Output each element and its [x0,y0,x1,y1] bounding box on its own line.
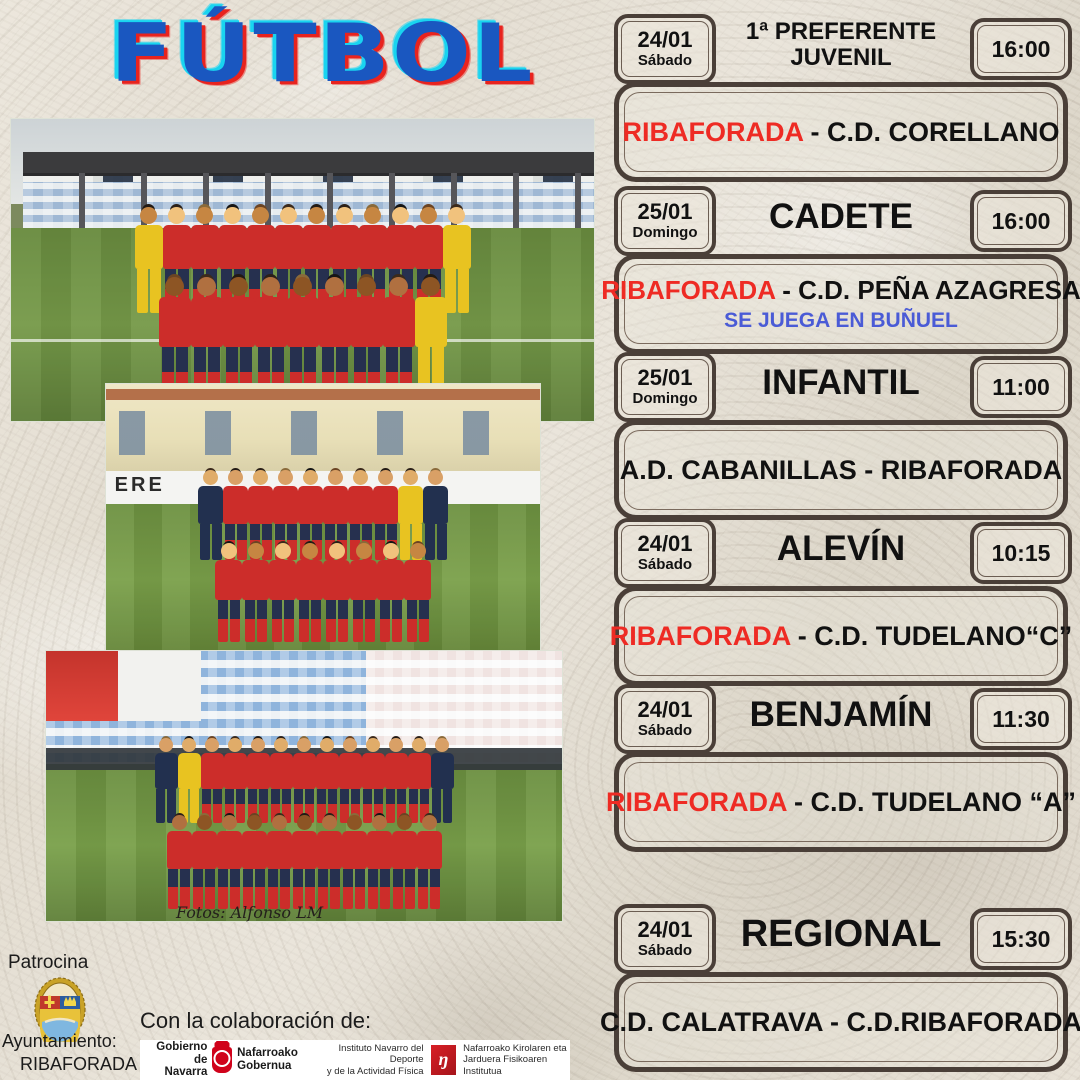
player-torso [431,753,454,789]
player-torso [217,831,242,869]
separator: - [857,455,881,485]
home-team: A.D. CABANILLAS [620,455,857,485]
match-box[interactable]: RIBAFORADA - C.D. CORELLANO [614,82,1068,182]
player-head [336,207,353,224]
building-roof [106,389,540,400]
player-head [421,277,440,296]
player-leg [380,600,390,642]
separator: - [803,117,827,147]
player-figure [247,738,270,823]
player-leg [299,600,309,642]
player-figure [201,738,224,823]
player-leg [230,600,240,642]
match-box[interactable]: C.D. CALATRAVA - C.D.RIBAFORADA [614,972,1068,1072]
away-team: C.D. TUDELANO“C” [814,621,1072,651]
player-torso [303,225,331,269]
player-head [356,543,372,559]
date-badge: 24/01 Sábado [614,518,716,588]
building-windows [119,411,527,455]
away-team: C.D.RIBAFORADA [847,1007,1080,1037]
player-leg [330,869,340,909]
player-torso [392,831,417,869]
player-leg [284,600,294,642]
fixture-benjamin[interactable]: 24/01 Sábado BENJAMÍN 11:30 RIBAFORADA -… [600,678,1080,852]
time-badge: 11:00 [970,356,1072,418]
player-torso [248,486,273,524]
collaborator-logos: Gobierno de Navarra Nafarroako Gobernua … [140,1040,570,1080]
category-label: 1ª PREFERENTE JUVENIL [708,8,974,82]
match-teams: RIBAFORADA - C.D. TUDELANO“C” [610,621,1072,651]
match-teams: A.D. CABANILLAS - RIBAFORADA [620,455,1063,485]
player-figure [417,815,442,909]
player-head [435,738,449,752]
player-head [248,543,264,559]
player-torso [215,560,242,600]
player-figure [431,738,454,823]
player-leg [353,600,363,642]
player-figure [385,738,408,823]
match-box[interactable]: RIBAFORADA - C.D. TUDELANO “A” [614,752,1068,852]
player-head [420,207,437,224]
player-head [383,543,399,559]
player-figure [339,738,362,823]
team-row-back [46,738,562,823]
player-legs [342,869,367,909]
player-torso [298,486,323,524]
player-torso [155,753,178,789]
player-leg [419,600,429,642]
player-torso [292,831,317,869]
player-figure [392,815,417,909]
instituto-deporte-es: Instituto Navarro del Deporte y de la Ac… [320,1043,424,1078]
match-note: SE JUEGA EN BUÑUEL [724,309,958,332]
player-head [165,277,184,296]
home-team: RIBAFORADA [601,275,775,305]
home-team: RIBAFORADA [606,787,786,817]
player-torso [198,486,223,524]
player-torso [415,225,443,269]
player-leg [245,600,255,642]
player-figure [296,543,323,642]
away-team: C.D. PEÑA AZAGRESA [798,275,1080,305]
fixture-regional[interactable]: 24/01 Sábado REGIONAL 15:30 C.D. CALATRA… [600,898,1080,1072]
player-leg [355,869,365,909]
team-row-front [106,543,540,642]
player-head [274,738,288,752]
player-leg [392,600,402,642]
player-torso [159,297,191,347]
player-figure [404,543,431,642]
player-head [325,277,344,296]
player-head [347,815,362,830]
player-figure [317,815,342,909]
juvenil-team-photo [10,118,595,422]
player-torso [323,486,348,524]
match-teams: RIBAFORADA - C.D. CORELLANO [623,117,1060,147]
player-head [275,543,291,559]
player-legs [215,600,242,642]
player-torso [247,225,275,269]
player-figure [224,738,247,823]
player-torso [267,831,292,869]
player-leg [405,869,415,909]
player-torso [331,225,359,269]
player-figure [167,815,192,909]
player-head [329,543,345,559]
separator: - [775,275,798,305]
player-head [196,207,213,224]
category-label: INFANTIL [708,346,974,420]
player-figure [342,815,367,909]
player-legs [367,869,392,909]
player-head [297,738,311,752]
player-head [389,277,408,296]
player-torso [247,753,270,789]
player-figure [377,543,404,642]
fixtures-column: 24/01 Sábado 1ª PREFERENTE JUVENIL 16:00… [600,0,1080,1080]
fixture-infantil[interactable]: 25/01 Domingo INFANTIL 11:00 A.D. CABANI… [600,346,1080,520]
fixture-alevin[interactable]: 24/01 Sábado ALEVÍN 10:15 RIBAFORADA - C… [600,512,1080,686]
player-torso [275,225,303,269]
fixture-header: 25/01 Domingo INFANTIL 11:00 [600,346,1080,420]
alevin-team-photo: ERE [105,383,541,657]
date-badge: 24/01 Sábado [614,684,716,754]
player-torso [359,225,387,269]
player-head [221,543,237,559]
match-box[interactable]: RIBAFORADA - C.D. PEÑA AZAGRESA SE JUEGA… [614,254,1068,354]
player-head [410,543,426,559]
player-head [278,470,293,485]
player-legs [269,600,296,642]
player-head [222,815,237,830]
away-team: RIBAFORADA [881,455,1063,485]
player-leg [365,600,375,642]
player-torso [287,297,319,347]
player-figure [362,738,385,823]
player-head [205,738,219,752]
category-label: BENJAMÍN [708,678,974,752]
player-legs [377,600,404,642]
separator: - [823,1007,847,1037]
player-figure [408,738,431,823]
match-teams: C.D. CALATRAVA - C.D.RIBAFORADA [600,1007,1080,1037]
player-torso [255,297,287,347]
title-area: FÚTBOL [0,6,600,102]
player-head [203,470,218,485]
player-leg [326,600,336,642]
player-torso [242,831,267,869]
player-leg [272,600,282,642]
player-torso [367,831,392,869]
team-row-front [46,815,562,909]
ayuntamiento-block: Ayuntamiento: RIBAFORADA [2,1030,137,1075]
player-torso [167,831,192,869]
player-figure [316,738,339,823]
player-head [412,738,426,752]
player-figure [269,543,296,642]
player-head [372,815,387,830]
player-head [322,815,337,830]
player-head [197,815,212,830]
time-badge: 15:30 [970,908,1072,970]
instituto-navarro-deporte-logo: Instituto Navarro del Deporte y de la Ac… [320,1043,570,1078]
gobierno-de-navarra-logo: Gobierno de Navarra Nafarroako Gobernua [154,1041,298,1080]
player-torso [316,753,339,789]
player-torso [293,753,316,789]
home-team: RIBAFORADA [610,621,790,651]
player-torso [417,831,442,869]
player-head [320,738,334,752]
player-head [343,738,357,752]
player-figure [323,543,350,642]
player-torso [224,753,247,789]
player-head [159,738,173,752]
player-figure [350,543,377,642]
separator: - [790,621,814,651]
player-leg [418,869,428,909]
ayuntamiento-name: RIBAFORADA [2,1053,137,1076]
player-head [168,207,185,224]
player-head [378,470,393,485]
player-leg [257,600,267,642]
player-head [293,277,312,296]
player-torso [350,560,377,600]
home-team: RIBAFORADA [623,117,803,147]
player-head [272,815,287,830]
fixture-header: 24/01 Sábado REGIONAL 15:30 [600,898,1080,972]
player-torso [269,560,296,600]
player-torso [342,831,367,869]
player-torso [319,297,351,347]
collaboration-label: Con la colaboración de: [140,1008,371,1034]
category-label: ALEVÍN [708,512,974,586]
player-torso [387,225,415,269]
date-badge: 24/01 Sábado [614,14,716,84]
fixture-header: 24/01 Sábado 1ª PREFERENTE JUVENIL 16:00 [600,8,1080,82]
player-leg [368,869,378,909]
player-head [302,543,318,559]
player-head [297,815,312,830]
player-head [357,277,376,296]
instituto-deporte-eu: Nafarroako Kirolaren eta Jarduera Fisiko… [463,1043,570,1078]
ayuntamiento-label: Ayuntamiento: [2,1030,137,1053]
fixture-header: 25/01 Domingo CADETE 16:00 [600,180,1080,254]
player-head [229,277,248,296]
time-badge: 16:00 [970,190,1072,252]
player-leg [338,600,348,642]
player-head [253,470,268,485]
player-head [172,815,187,830]
player-head [224,207,241,224]
home-team: C.D. CALATRAVA [600,1007,822,1037]
fixture-header: 24/01 Sábado BENJAMÍN 11:30 [600,678,1080,752]
player-legs [404,600,431,642]
player-head [366,738,380,752]
player-figure [217,815,242,909]
player-figure [242,543,269,642]
player-head [280,207,297,224]
time-badge: 16:00 [970,18,1072,80]
player-figure [293,738,316,823]
match-box[interactable]: RIBAFORADA - C.D. TUDELANO“C” [614,586,1068,686]
time-badge: 11:30 [970,688,1072,750]
player-head [261,277,280,296]
player-head [392,207,409,224]
player-torso [404,560,431,600]
photo-credit: Fotos: Alfonso LM [176,903,323,922]
player-head [251,738,265,752]
player-torso [223,486,248,524]
player-torso [273,486,298,524]
match-teams: RIBAFORADA - C.D. PEÑA AZAGRESA [601,276,1080,305]
category-label: CADETE [708,180,974,254]
time-badge: 10:15 [970,522,1072,584]
player-figure [192,815,217,909]
player-head [228,470,243,485]
navarra-shield-icon [212,1047,232,1073]
player-torso [270,753,293,789]
player-torso [408,753,431,789]
player-legs [417,869,442,909]
player-torso [423,486,448,524]
player-head [403,470,418,485]
player-head [247,815,262,830]
player-leg [343,869,353,909]
gobierno-navarra-es: Gobierno de Navarra [154,1041,207,1080]
player-torso [415,297,447,347]
player-head [428,470,443,485]
player-head [228,738,242,752]
fixture-cadete[interactable]: 25/01 Domingo CADETE 16:00 RIBAFORADA - … [600,180,1080,354]
player-head [308,207,325,224]
player-torso [296,560,323,600]
player-head [397,815,412,830]
player-head [448,207,465,224]
player-torso [191,297,223,347]
date-badge: 24/01 Sábado [614,904,716,974]
player-figure [178,738,201,823]
stand-roof [23,152,594,173]
player-head [140,207,157,224]
player-figure [270,738,293,823]
player-torso [443,225,471,269]
away-team: C.D. TUDELANO “A” [811,787,1077,817]
player-figure [155,738,178,823]
match-teams: RIBAFORADA - C.D. TUDELANO “A” [606,787,1076,817]
player-figure [267,815,292,909]
player-leg [380,869,390,909]
player-head [364,207,381,224]
left-column: FÚTBOL ERE [0,0,600,1080]
player-torso [201,753,224,789]
player-head [197,277,216,296]
player-leg [430,869,440,909]
poster-canvas: FÚTBOL ERE [0,0,1080,1080]
white-wall [118,651,201,721]
player-torso [323,560,350,600]
date-badge: 25/01 Domingo [614,352,716,422]
player-figure [367,815,392,909]
player-legs [242,600,269,642]
player-torso [348,486,373,524]
player-torso [242,560,269,600]
player-torso [192,831,217,869]
player-head [182,738,196,752]
player-legs [350,600,377,642]
player-leg [407,600,417,642]
player-torso [219,225,247,269]
benjamin-team-photo [45,650,563,922]
player-torso [135,225,163,269]
away-team: C.D. CORELLANO [827,117,1060,147]
player-figure [292,815,317,909]
player-legs [296,600,323,642]
player-torso [373,486,398,524]
player-torso [362,753,385,789]
fixture-header: 24/01 Sábado ALEVÍN 10:15 [600,512,1080,586]
player-torso [191,225,219,269]
player-torso [398,486,423,524]
player-figure [242,815,267,909]
red-banner [46,651,118,721]
patrocina-label: Patrocina [8,952,88,974]
instituto-deporte-mark-icon: ŋ [431,1045,457,1075]
player-torso [163,225,191,269]
player-legs [392,869,417,909]
player-head [389,738,403,752]
player-torso [178,753,201,789]
player-leg [311,600,321,642]
player-head [328,470,343,485]
date-badge: 25/01 Domingo [614,186,716,256]
player-head [252,207,269,224]
fixture-juvenil[interactable]: 24/01 Sábado 1ª PREFERENTE JUVENIL 16:00… [600,8,1080,182]
player-head [422,815,437,830]
player-torso [317,831,342,869]
player-torso [377,560,404,600]
page-title: FÚTBOL [110,14,535,94]
player-legs [323,600,350,642]
player-leg [218,600,228,642]
player-head [303,470,318,485]
player-torso [385,753,408,789]
separator: - [787,787,811,817]
gobierno-navarra-eu: Nafarroako Gobernua [237,1047,298,1073]
player-torso [383,297,415,347]
player-leg [393,869,403,909]
category-label: REGIONAL [708,898,974,972]
player-torso [223,297,255,347]
player-figure [215,543,242,642]
player-torso [339,753,362,789]
match-box[interactable]: A.D. CABANILLAS - RIBAFORADA [614,420,1068,520]
player-torso [351,297,383,347]
player-head [353,470,368,485]
